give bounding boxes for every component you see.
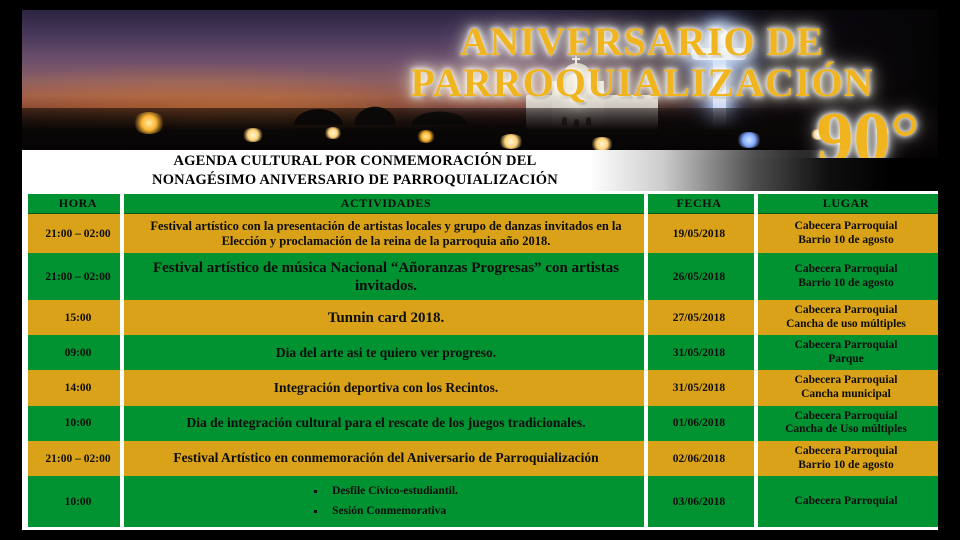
agenda-title-band: AGENDA CULTURAL POR CONMEMORACIÓN DEL NO… bbox=[22, 150, 938, 191]
monument-base-light bbox=[736, 132, 762, 148]
cell-hora: 10:00 bbox=[28, 406, 128, 441]
column-separator-hora-actividades bbox=[120, 191, 124, 530]
list-item: Desfile Cívico-estudiantil. bbox=[314, 482, 458, 502]
cell-hora: 21:00 – 02:00 bbox=[28, 253, 128, 300]
cell-fecha: 03/06/2018 bbox=[644, 476, 754, 527]
cell-fecha: 01/06/2018 bbox=[644, 406, 754, 441]
cell-lugar: Cabecera Parroquial bbox=[754, 476, 938, 527]
lugar-line-2: Cancha de uso múltiples bbox=[758, 318, 934, 332]
table-row: 21:00 – 02:00 Festival Artístico en conm… bbox=[28, 441, 938, 476]
lugar-line-1: Cabecera Parroquial bbox=[758, 220, 934, 234]
cell-lugar: Cabecera Parroquial Cancha municipal bbox=[754, 370, 938, 405]
hero-banner-photo: ANIVERSARIO DE PARROQUIALIZACIÓN 90° bbox=[22, 10, 938, 158]
lugar-line-2: Cancha municipal bbox=[758, 388, 934, 402]
cell-hora: 10:00 bbox=[28, 476, 128, 527]
cell-hora: 15:00 bbox=[28, 300, 128, 335]
cell-fecha: 02/06/2018 bbox=[644, 441, 754, 476]
list-item: Sesión Conmemorativa bbox=[314, 502, 458, 522]
cell-actividad: Integración deportiva con los Recintos. bbox=[128, 370, 644, 405]
cell-fecha: 31/05/2018 bbox=[644, 370, 754, 405]
cell-hora: 21:00 – 02:00 bbox=[28, 214, 128, 254]
street-lamp-glow bbox=[590, 137, 614, 151]
lugar-line-2: Barrio 10 de agosto bbox=[758, 459, 934, 473]
cell-lugar: Cabecera Parroquial Barrio 10 de agosto bbox=[754, 214, 938, 254]
actividad-bullet-list: Desfile Cívico-estudiantil. Sesión Conme… bbox=[314, 482, 458, 521]
cell-lugar: Cabecera Parroquial Cancha de uso múltip… bbox=[754, 300, 938, 335]
table-row: 09:00 Dia del arte asi te quiero ver pro… bbox=[28, 335, 938, 370]
table-row: 21:00 – 02:00 Festival artístico con la … bbox=[28, 214, 938, 254]
street-lamp-glow bbox=[324, 127, 342, 139]
cell-hora: 21:00 – 02:00 bbox=[28, 441, 128, 476]
poster-root: ANIVERSARIO DE PARROQUIALIZACIÓN 90° AGE… bbox=[0, 0, 960, 540]
street-lamp-glow bbox=[242, 128, 264, 142]
lugar-line-1: Cabecera Parroquial bbox=[758, 304, 934, 318]
table-row: 21:00 – 02:00 Festival artístico de músi… bbox=[28, 253, 938, 300]
cell-fecha: 31/05/2018 bbox=[644, 335, 754, 370]
cell-actividad: Festival artístico de música Nacional “A… bbox=[128, 253, 644, 300]
lugar-line-2: Parque bbox=[758, 353, 934, 367]
column-header-lugar: LUGAR bbox=[754, 194, 938, 214]
agenda-table-body: 21:00 – 02:00 Festival artístico con la … bbox=[28, 214, 938, 528]
lugar-line-1: Cabecera Parroquial bbox=[758, 445, 934, 459]
cell-lugar: Cabecera Parroquial Barrio 10 de agosto bbox=[754, 441, 938, 476]
lugar-line-1: Cabecera Parroquial bbox=[758, 339, 934, 353]
cell-lugar: Cabecera Parroquial Barrio 10 de agosto bbox=[754, 253, 938, 300]
cell-actividad: Festival artístico con la presentación d… bbox=[128, 214, 644, 254]
cell-fecha: 19/05/2018 bbox=[644, 214, 754, 254]
table-header-row: HORA ACTIVIDADES FECHA LUGAR bbox=[28, 194, 938, 214]
cell-actividad: Desfile Cívico-estudiantil. Sesión Conme… bbox=[128, 476, 644, 527]
cell-actividad: Festival Artístico en conmemoración del … bbox=[128, 441, 644, 476]
agenda-table-container: HORA ACTIVIDADES FECHA LUGAR 21:00 – 02:… bbox=[22, 191, 938, 530]
lugar-line-2: Barrio 10 de agosto bbox=[758, 277, 934, 291]
cell-hora: 09:00 bbox=[28, 335, 128, 370]
cell-hora: 14:00 bbox=[28, 370, 128, 405]
agenda-table-head: HORA ACTIVIDADES FECHA LUGAR bbox=[28, 194, 938, 214]
cell-fecha: 26/05/2018 bbox=[644, 253, 754, 300]
table-row: 15:00 Tunnin card 2018. 27/05/2018 Cabec… bbox=[28, 300, 938, 335]
cell-actividad: Dia del arte asi te quiero ver progreso. bbox=[128, 335, 644, 370]
column-separator-actividades-fecha bbox=[644, 191, 648, 530]
lugar-line-1: Cabecera Parroquial bbox=[758, 374, 934, 388]
lugar-line-1: Cabecera Parroquial bbox=[758, 263, 934, 277]
lugar-line-1: Cabecera Parroquial bbox=[758, 410, 934, 424]
column-header-hora: HORA bbox=[28, 194, 128, 214]
cell-actividad: Tunnin card 2018. bbox=[128, 300, 644, 335]
column-header-actividades: ACTIVIDADES bbox=[128, 194, 644, 214]
lugar-line-2: Barrio 10 de agosto bbox=[758, 234, 934, 248]
table-row: 10:00 Desfile Cívico-estudiantil. Sesión… bbox=[28, 476, 938, 527]
agenda-table: HORA ACTIVIDADES FECHA LUGAR 21:00 – 02:… bbox=[28, 194, 938, 527]
lugar-line-2: Cancha de Uso múltiples bbox=[758, 423, 934, 437]
table-row: 14:00 Integración deportiva con los Reci… bbox=[28, 370, 938, 405]
cell-fecha: 27/05/2018 bbox=[644, 300, 754, 335]
lugar-line-1: Cabecera Parroquial bbox=[758, 495, 934, 509]
agenda-title-line-1: AGENDA CULTURAL POR CONMEMORACIÓN DEL bbox=[35, 152, 675, 170]
banner-headline: ANIVERSARIO DE PARROQUIALIZACIÓN bbox=[362, 22, 922, 104]
column-header-fecha: FECHA bbox=[644, 194, 754, 214]
table-row: 10:00 Dia de integración cultural para e… bbox=[28, 406, 938, 441]
agenda-title-text: AGENDA CULTURAL POR CONMEMORACIÓN DEL NO… bbox=[35, 152, 675, 188]
headline-line-1: ANIVERSARIO DE bbox=[362, 22, 922, 63]
cell-lugar: Cabecera Parroquial Cancha de Uso múltip… bbox=[754, 406, 938, 441]
cell-actividad: Dia de integración cultural para el resc… bbox=[128, 406, 644, 441]
cell-lugar: Cabecera Parroquial Parque bbox=[754, 335, 938, 370]
agenda-title-line-2: NONAGÉSIMO ANIVERSARIO DE PARROQUIALIZAC… bbox=[35, 171, 675, 189]
column-separator-fecha-lugar bbox=[754, 191, 758, 530]
